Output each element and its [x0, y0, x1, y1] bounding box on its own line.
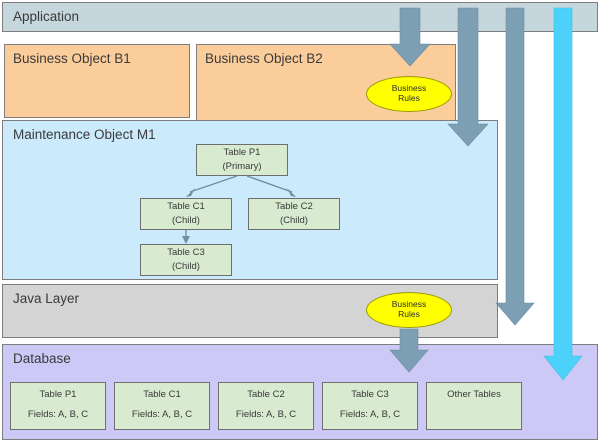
band-application-label: Application [13, 9, 79, 24]
database-table-c2-fields: Fields: A, B, C [219, 409, 313, 420]
diagram-canvas: Application Business Object B1 Business … [0, 0, 600, 442]
database-table-other-name: Other Tables [427, 389, 521, 400]
maintenance-table-c3: Table C3 (Child) [140, 244, 232, 276]
database-table-p1-name: Table P1 [11, 389, 105, 400]
business-rules-oval-business-object: Business Rules [366, 76, 452, 112]
maintenance-table-c3-role: (Child) [172, 260, 200, 274]
database-table-c3-name: Table C3 [323, 389, 417, 400]
database-table-c1: Table C1 Fields: A, B, C [114, 382, 210, 430]
maintenance-table-c3-name: Table C3 [167, 246, 205, 260]
database-table-other: Other Tables [426, 382, 522, 430]
band-application: Application [2, 2, 598, 32]
maintenance-table-c1: Table C1 (Child) [140, 198, 232, 230]
database-table-c3-fields: Fields: A, B, C [323, 409, 417, 420]
band-maintenance-object-label: Maintenance Object M1 [13, 127, 156, 142]
business-object-b2-label: Business Object B2 [205, 51, 323, 66]
maintenance-table-p1-name: Table P1 [224, 146, 261, 160]
band-java-layer-label: Java Layer [13, 291, 79, 306]
band-database-label: Database [13, 351, 71, 366]
database-table-c3: Table C3 Fields: A, B, C [322, 382, 418, 430]
business-object-b1-label: Business Object B1 [13, 51, 131, 66]
database-table-p1: Table P1 Fields: A, B, C [10, 382, 106, 430]
database-table-c1-name: Table C1 [115, 389, 209, 400]
maintenance-table-c2-role: (Child) [280, 214, 308, 228]
maintenance-table-c1-name: Table C1 [167, 200, 205, 214]
business-object-b1: Business Object B1 [4, 44, 190, 118]
maintenance-table-c2: Table C2 (Child) [248, 198, 340, 230]
business-rules-line2: Rules [398, 310, 420, 320]
business-rules-oval-java-layer: Business Rules [366, 292, 452, 328]
business-rules-line2: Rules [398, 94, 420, 104]
maintenance-table-p1: Table P1 (Primary) [196, 144, 288, 176]
arrow-application-to-database [544, 8, 582, 380]
maintenance-table-c1-role: (Child) [172, 214, 200, 228]
maintenance-table-c2-name: Table C2 [275, 200, 313, 214]
maintenance-table-p1-role: (Primary) [222, 160, 261, 174]
database-table-c2-name: Table C2 [219, 389, 313, 400]
database-table-c1-fields: Fields: A, B, C [115, 409, 209, 420]
database-table-p1-fields: Fields: A, B, C [11, 409, 105, 420]
arrow-application-to-java-layer [496, 8, 534, 325]
database-table-c2: Table C2 Fields: A, B, C [218, 382, 314, 430]
